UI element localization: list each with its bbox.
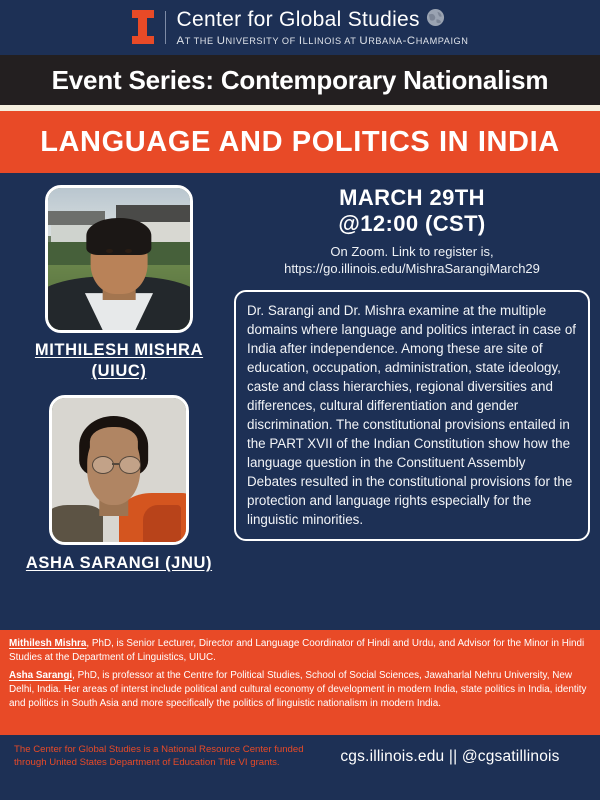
- speaker-name-line1: MITHILESH MISHRA: [35, 340, 203, 361]
- globe-icon: [426, 8, 445, 32]
- speaker-name-mithilesh-mishra: MITHILESH MISHRA (UIUC): [35, 340, 203, 381]
- header-inner: Center for Global Studies AT THE UNIVERS…: [132, 8, 469, 46]
- speaker-photo-asha-sarangi: [49, 395, 189, 545]
- poster-title-band: LANGUAGE AND POLITICS IN INDIA: [0, 111, 600, 173]
- event-series-band: Event Series: Contemporary Nationalism: [0, 55, 600, 105]
- speaker-photo-mithilesh-mishra: [45, 185, 193, 333]
- org-titleblock: Center for Global Studies AT THE UNIVERS…: [177, 8, 469, 46]
- header-divider: [165, 11, 166, 44]
- bio-mithilesh-mishra: Mithilesh Mishra, PhD, is Senior Lecture…: [9, 637, 591, 665]
- event-details-column: MARCH 29TH @12:00 (CST) On Zoom. Link to…: [228, 185, 590, 630]
- contact-info[interactable]: cgs.illinois.edu || @cgsatillinois: [314, 744, 586, 766]
- registration-link[interactable]: https://go.illinois.edu/MishraSarangiMar…: [284, 260, 540, 278]
- org-title-row: Center for Global Studies: [177, 8, 469, 32]
- org-title: Center for Global Studies: [177, 9, 420, 31]
- speakers-column: MITHILESH MISHRA (UIUC) ASHA SARANGI (JN…: [10, 185, 228, 630]
- funding-note: The Center for Global Studies is a Natio…: [14, 744, 314, 770]
- abstract-card: Dr. Sarangi and Dr. Mishra examine at th…: [234, 290, 590, 541]
- poster-header: Center for Global Studies AT THE UNIVERS…: [0, 0, 600, 55]
- bio-name-mithilesh-mishra: Mithilesh Mishra: [9, 638, 86, 649]
- org-subtitle: AT THE UNIVERSITY OF ILLINOIS AT URBANA-…: [177, 35, 469, 47]
- poster-footer: The Center for Global Studies is a Natio…: [0, 735, 600, 800]
- bio-text-asha-sarangi: , PhD, is professor at the Centre for Po…: [9, 670, 586, 709]
- event-time: @12:00 (CST): [338, 211, 485, 237]
- platform-note: On Zoom. Link to register is,: [330, 243, 493, 261]
- speaker-affiliation-line: (UIUC): [35, 361, 203, 382]
- bio-asha-sarangi: Asha Sarangi, PhD, is professor at the C…: [9, 669, 591, 711]
- event-date: MARCH 29TH: [339, 185, 485, 211]
- speaker-name-asha-sarangi: ASHA SARANGI (JNU): [26, 553, 212, 574]
- page-title: LANGUAGE AND POLITICS IN INDIA: [40, 126, 560, 159]
- bio-name-asha-sarangi: Asha Sarangi: [9, 670, 72, 681]
- bio-text-mithilesh-mishra: , PhD, is Senior Lecturer, Director and …: [9, 638, 584, 663]
- poster-body: MITHILESH MISHRA (UIUC) ASHA SARANGI (JN…: [0, 173, 600, 630]
- event-poster: Center for Global Studies AT THE UNIVERS…: [0, 0, 600, 800]
- illinois-block-i-logo-icon: [132, 10, 154, 44]
- abstract-text: Dr. Sarangi and Dr. Mishra examine at th…: [247, 301, 577, 529]
- speaker-bios-band: Mithilesh Mishra, PhD, is Senior Lecture…: [0, 630, 600, 735]
- event-series-label: Event Series: Contemporary Nationalism: [52, 65, 549, 96]
